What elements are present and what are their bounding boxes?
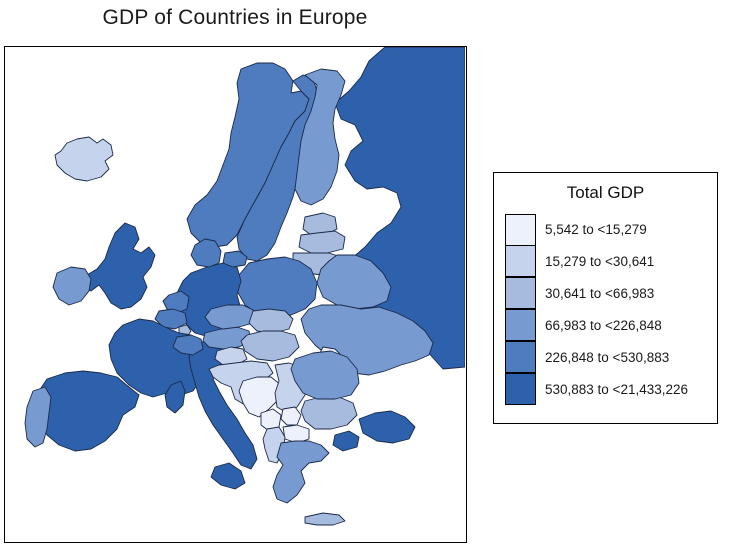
legend-item[interactable]: 530,883 to <21,433,226 [505, 374, 710, 406]
legend-swatch [505, 309, 536, 341]
legend-label: 530,883 to <21,433,226 [545, 383, 688, 397]
legend-label: 30,641 to <66,983 [545, 287, 654, 301]
country-united-kingdom[interactable] [83, 223, 155, 309]
legend-item[interactable]: 5,542 to <15,279 [505, 214, 710, 246]
legend-item[interactable]: 66,983 to <226,848 [505, 310, 710, 342]
legend-swatch [505, 341, 536, 373]
legend-label: 5,542 to <15,279 [545, 223, 647, 237]
country-slovakia[interactable] [249, 309, 293, 333]
legend-title: Total GDP [494, 183, 717, 203]
legend-item[interactable]: 30,641 to <66,983 [505, 278, 710, 310]
legend-item[interactable]: 226,848 to <530,883 [505, 342, 710, 374]
country-ireland[interactable] [53, 267, 91, 305]
country-kosovo[interactable] [281, 407, 301, 425]
country-spain[interactable] [35, 371, 139, 451]
legend-item[interactable]: 15,279 to <30,641 [505, 246, 710, 278]
country-cyprus[interactable] [305, 513, 345, 525]
legend-item-list: 5,542 to <15,279 15,279 to <30,641 30,64… [505, 214, 710, 406]
country-north-macedonia[interactable] [283, 425, 309, 443]
legend-swatch [505, 373, 536, 405]
country-iceland[interactable] [55, 137, 113, 181]
legend-label: 226,848 to <530,883 [545, 351, 669, 365]
legend-swatch [505, 214, 536, 246]
legend-swatch [505, 245, 536, 277]
legend-label: 15,279 to <30,641 [545, 255, 654, 269]
legend: Total GDP 5,542 to <15,279 15,279 to <30… [493, 172, 718, 424]
country-latvia[interactable] [299, 231, 345, 253]
country-greece[interactable] [273, 441, 329, 503]
page-title: GDP of Countries in Europe [0, 6, 470, 30]
country-czechia[interactable] [205, 305, 255, 329]
country-portugal[interactable] [25, 387, 51, 447]
europe-choropleth-map [5, 47, 465, 541]
legend-swatch [505, 277, 536, 309]
map-plot-frame [4, 46, 467, 543]
country-bulgaria[interactable] [301, 397, 357, 429]
legend-label: 66,983 to <226,848 [545, 319, 662, 333]
country-hungary[interactable] [241, 331, 299, 361]
